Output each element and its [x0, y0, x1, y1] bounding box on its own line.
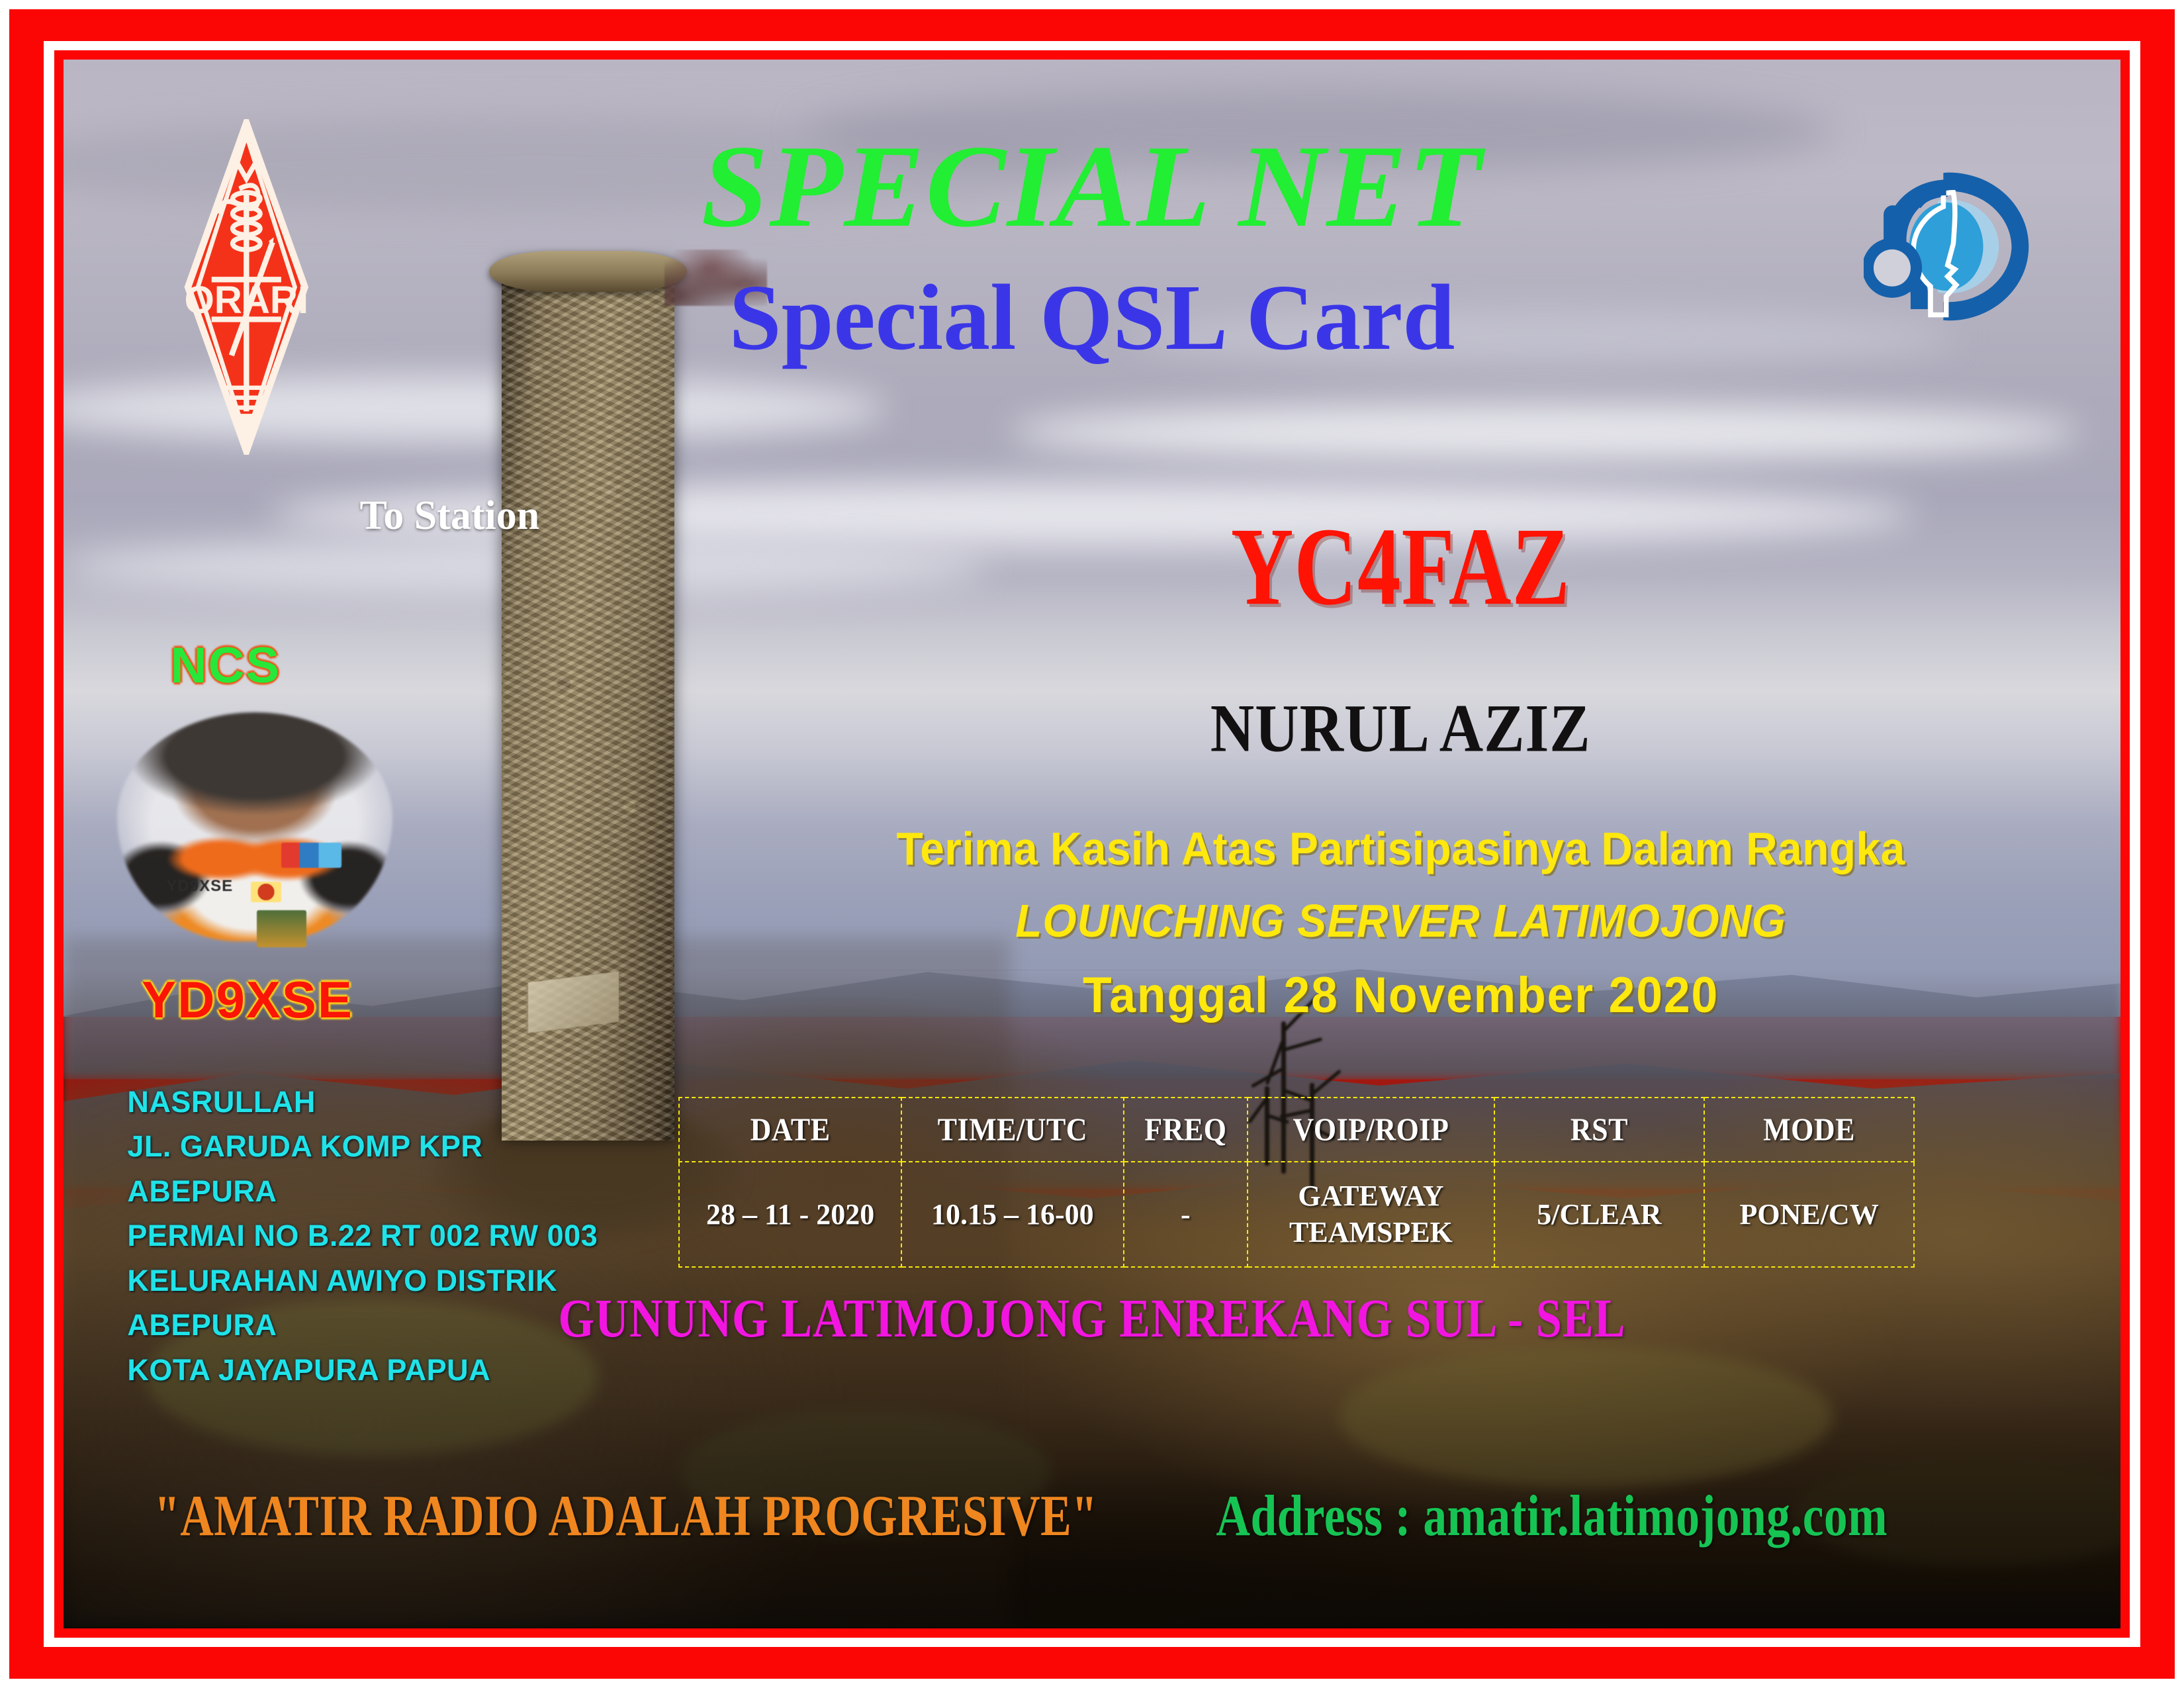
address-line: PERMAI NO B.22 RT 002 RW 003 — [127, 1213, 598, 1258]
cell-mode: PONE/CW — [1704, 1162, 1914, 1267]
thanks-line: Terima Kasih Atas Partisipasinya Dalam R… — [782, 822, 2019, 875]
event-line: LOUNCHING SERVER LATIMOJONG — [782, 894, 2019, 947]
motto-text: "AMATIR RADIO ADALAH PROGRESIVE" — [154, 1483, 1097, 1550]
to-station-label: To Station — [360, 492, 540, 539]
background-photo: ORARI SPECIAL NET Special QSL Card To St… — [64, 60, 2120, 1628]
title-special-qsl-card: Special QSL Card — [64, 270, 2120, 364]
header-time: TIME/UTC — [901, 1094, 1124, 1165]
address-line: NASRULLAH — [127, 1080, 598, 1125]
cell-rst: 5/CLEAR — [1494, 1162, 1704, 1267]
header-voip: VOIP/ROIP — [1248, 1094, 1494, 1165]
location-line: GUNUNG LATIMOJONG ENREKANG SUL - SEL — [115, 1288, 2070, 1350]
cell-voip: GATEWAY TEAMSPEK — [1248, 1162, 1494, 1267]
qsl-card: ORARI SPECIAL NET Special QSL Card To St… — [0, 0, 2184, 1688]
header-mode: MODE — [1704, 1094, 1914, 1165]
uniform-callsign-text: YD9XSE — [166, 877, 233, 896]
cell-voip-line2: TEAMSPEK — [1248, 1214, 1494, 1250]
operator-name: NURUL AZIZ — [804, 689, 1997, 768]
header-date: DATE — [679, 1094, 901, 1165]
uniform-id-card — [257, 910, 306, 948]
ncs-label: NCS — [171, 637, 281, 694]
header-freq: FREQ — [1124, 1094, 1248, 1165]
table-header-row: DATE TIME/UTC FREQ VOIP/ROIP RST MODE — [679, 1098, 1914, 1162]
title-special-net: SPECIAL NET — [64, 127, 2120, 245]
uniform-diamond-badge — [251, 882, 282, 902]
ncs-callsign: YD9XSE — [142, 970, 353, 1030]
cell-voip-line1: GATEWAY — [1248, 1178, 1494, 1214]
cell-date: 28 – 11 - 2020 — [679, 1162, 901, 1267]
qso-log-table: DATE TIME/UTC FREQ VOIP/ROIP RST MODE 28… — [678, 1097, 1915, 1268]
address-line: ABEPURA — [127, 1169, 598, 1214]
header-rst: RST — [1494, 1094, 1704, 1165]
uniform-chest-logo — [281, 843, 341, 868]
table-row: 28 – 11 - 2020 10.15 – 16-00 - GATEWAY T… — [679, 1162, 1914, 1267]
address-line: JL. GARUDA KOMP KPR — [127, 1124, 598, 1169]
cell-freq: - — [1124, 1162, 1248, 1267]
ncs-operator-photo — [117, 712, 392, 941]
event-date-line: Tanggal 28 November 2020 — [782, 966, 2019, 1024]
recipient-callsign: YC4FAZ — [834, 511, 1968, 622]
website-address: Address : amatir.latimojong.com — [1216, 1483, 1888, 1550]
cell-time: 10.15 – 16-00 — [901, 1162, 1124, 1267]
address-line: KOTA JAYAPURA PAPUA — [127, 1348, 598, 1393]
